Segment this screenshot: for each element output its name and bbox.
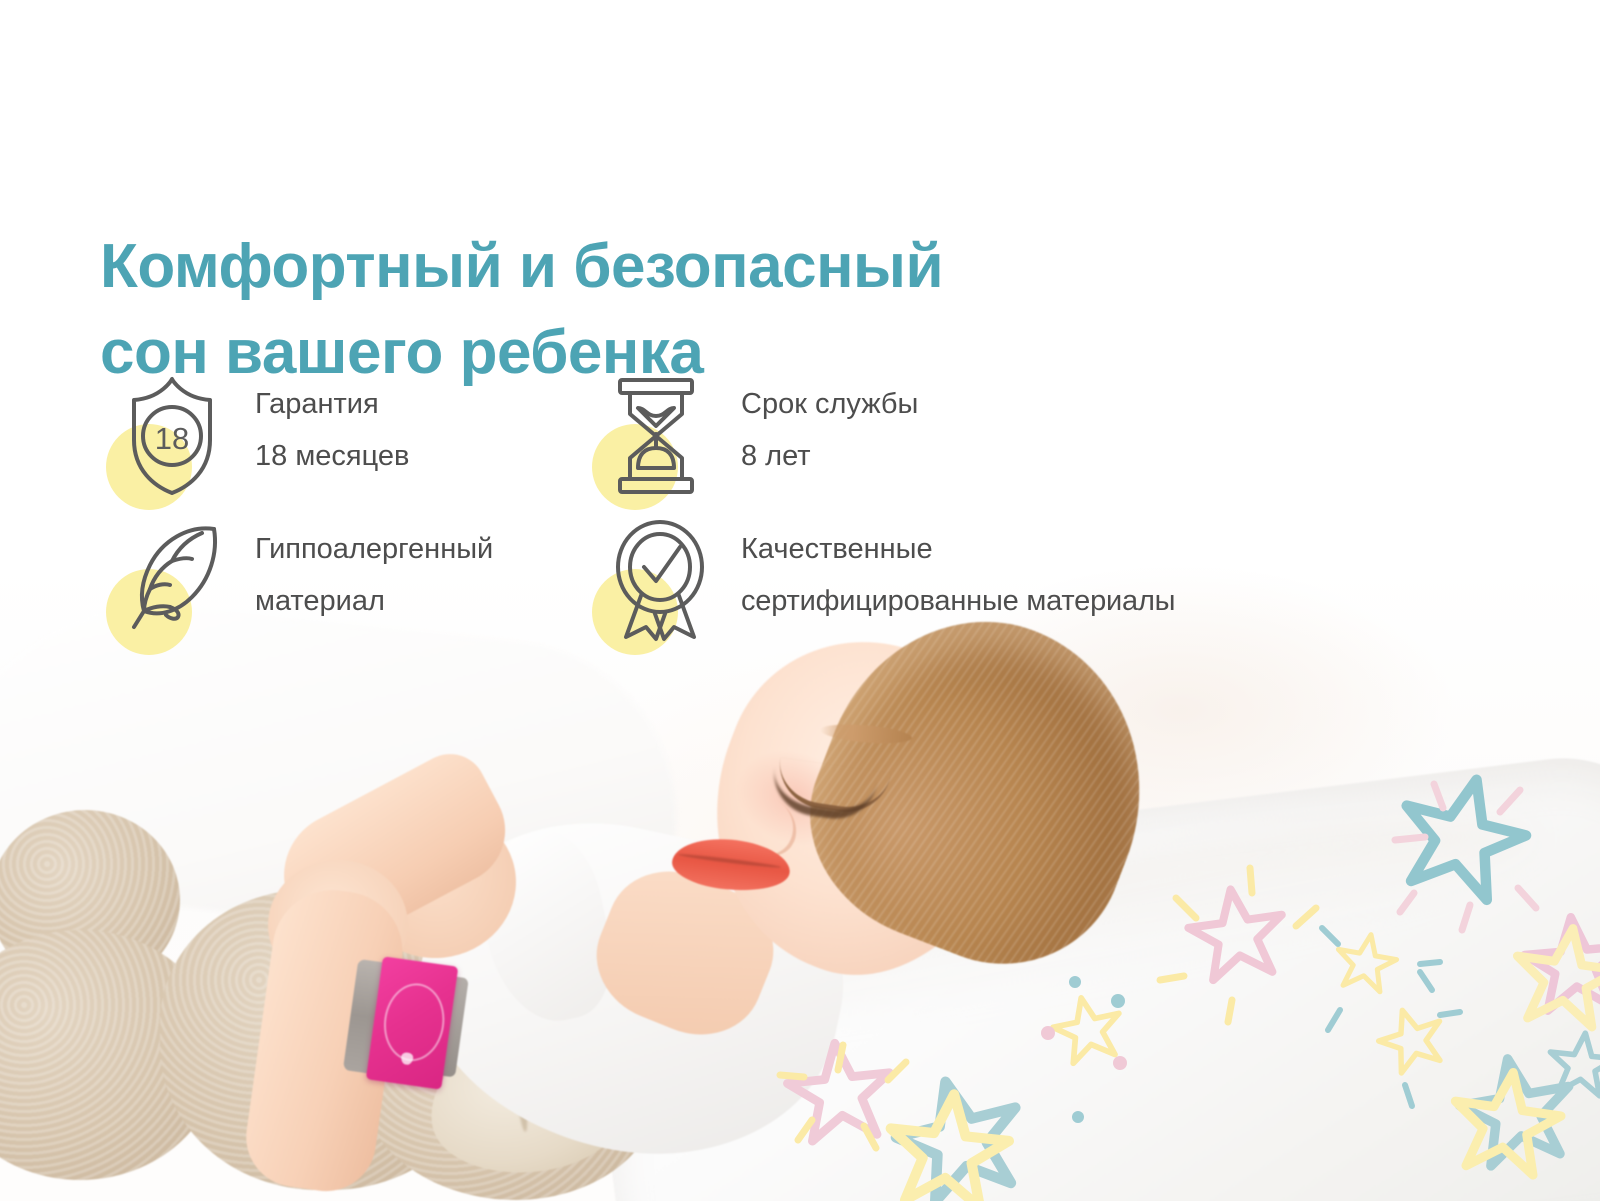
feature-hypoallergenic: Гиппоалергенный материал [100,511,493,646]
shield-18-icon: 18 [126,374,218,498]
feature-row-top: 18 Гарантия 18 месяцев [100,366,1520,511]
feature-line-2: материал [255,575,493,627]
feature-warranty: 18 Гарантия 18 месяцев [100,366,409,501]
feature-line-2: сертифицированные материалы [741,575,1175,627]
hourglass-icon [612,374,700,498]
shield-badge-number: 18 [155,421,189,456]
watch-dial-ring [379,979,449,1065]
feature-line-1: Качественные [741,533,933,565]
page-title-line-1: Комфортный и безопасный [100,224,1100,310]
feature-text: Гиппоалергенный материал [224,511,493,627]
feature-text: Срок службы 8 лет [710,366,918,482]
feature-line-1: Гарантия [255,388,379,420]
pink-smart-watch [342,953,468,1093]
feature-row-bottom: Гиппоалергенный материал [100,511,1520,656]
feature-icon-wrap: 18 [100,366,224,501]
feature-service-life: Срок службы 8 лет [586,366,918,501]
feature-line-1: Гиппоалергенный [255,533,493,565]
feature-certified-materials: Качественные сертифицированные материалы [586,511,1175,646]
feature-icon-wrap [586,366,710,501]
feature-icon-wrap [100,511,224,646]
feather-icon [118,519,222,637]
hero-photo [0,560,1600,1201]
feature-text: Гарантия 18 месяцев [224,366,409,482]
feature-line-2: 18 месяцев [255,430,409,482]
feature-list: 18 Гарантия 18 месяцев [100,366,1520,656]
promo-banner: Комфортный и безопасный сон вашего ребен… [0,0,1600,1201]
feature-text: Качественные сертифицированные материалы [710,511,1175,627]
feature-line-2: 8 лет [741,430,918,482]
feature-icon-wrap [586,511,710,646]
feature-line-1: Срок службы [741,388,918,420]
watch-logo-icon [400,1052,414,1066]
award-check-icon [612,519,708,643]
